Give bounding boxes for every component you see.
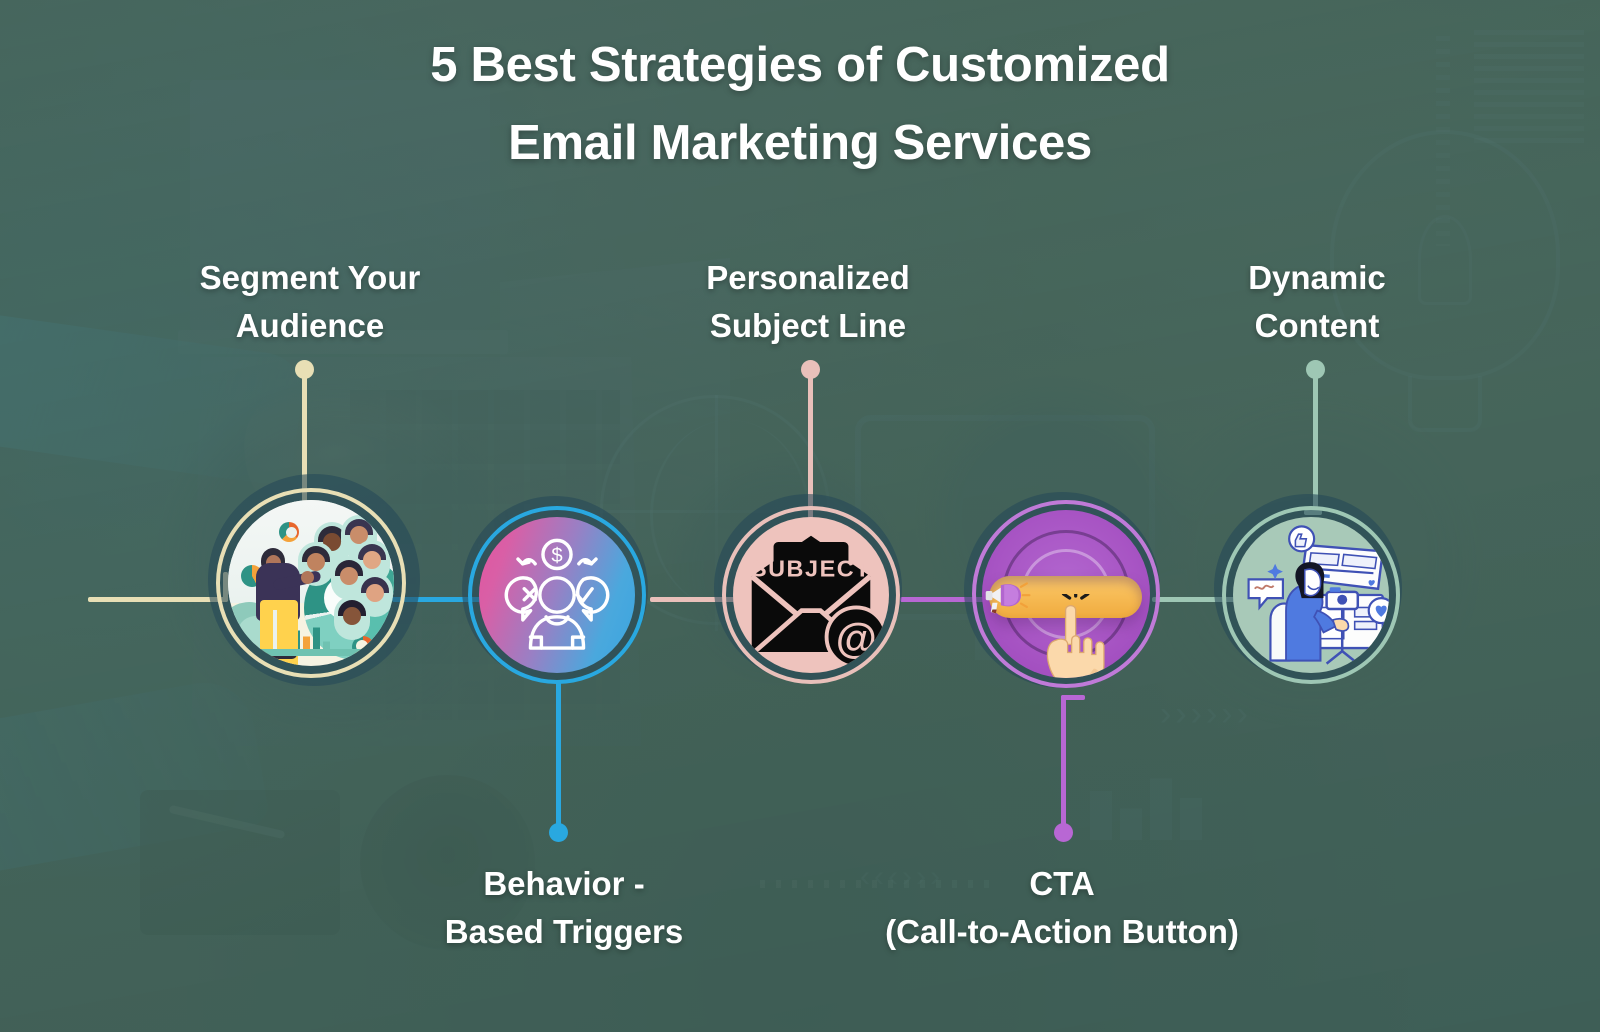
connector-node3-dot	[801, 360, 820, 379]
page-title: 5 Best Strategies of Customized Email Ma…	[0, 26, 1600, 183]
connector-node4-dot	[1054, 823, 1073, 842]
connector-node2-label-stem	[556, 680, 561, 835]
connector-node2-dot	[549, 823, 568, 842]
node1-icon-disc	[228, 500, 394, 666]
pointing-hand-icon	[1032, 594, 1119, 678]
node-behavior-based-triggers[interactable]: $	[468, 506, 658, 696]
node-segment-audience[interactable]	[216, 488, 436, 708]
connector-node1-dot	[295, 360, 314, 379]
dynamic-content-illustration	[1233, 517, 1389, 673]
node4-label: CTA (Call-to-Action Button)	[842, 860, 1282, 956]
page-title-line-2: Email Marketing Services	[0, 104, 1600, 182]
node2-icon-disc: $	[479, 517, 635, 673]
connector-left-entry-line	[88, 597, 228, 602]
behavior-triggers-icon: $	[479, 517, 635, 673]
node2-label: Behavior - Based Triggers	[404, 860, 724, 956]
node5-label: Dynamic Content	[1192, 254, 1442, 350]
page-title-line-1: 5 Best Strategies of Customized	[0, 26, 1600, 104]
subject-icon-badge-text: @	[836, 615, 877, 662]
node-cta-button[interactable]	[972, 500, 1172, 700]
email-subject-icon: @ SUBJECT	[733, 517, 889, 673]
subject-icon-text: SUBJECT	[751, 555, 871, 581]
node3-icon-disc: @ SUBJECT	[733, 517, 889, 673]
connector-node5-dot	[1306, 360, 1325, 379]
node4-icon-disc	[982, 510, 1150, 678]
megaphone-icon	[982, 570, 1039, 620]
node-dynamic-content[interactable]	[1222, 506, 1412, 696]
connector-node4-label-stem	[1061, 695, 1066, 835]
node3-label: Personalized Subject Line	[668, 254, 948, 350]
node-personalized-subject-line[interactable]: @ SUBJECT	[722, 506, 912, 696]
node1-label: Segment Your Audience	[160, 254, 460, 350]
node5-icon-disc	[1233, 517, 1389, 673]
svg-text:$: $	[551, 545, 562, 567]
